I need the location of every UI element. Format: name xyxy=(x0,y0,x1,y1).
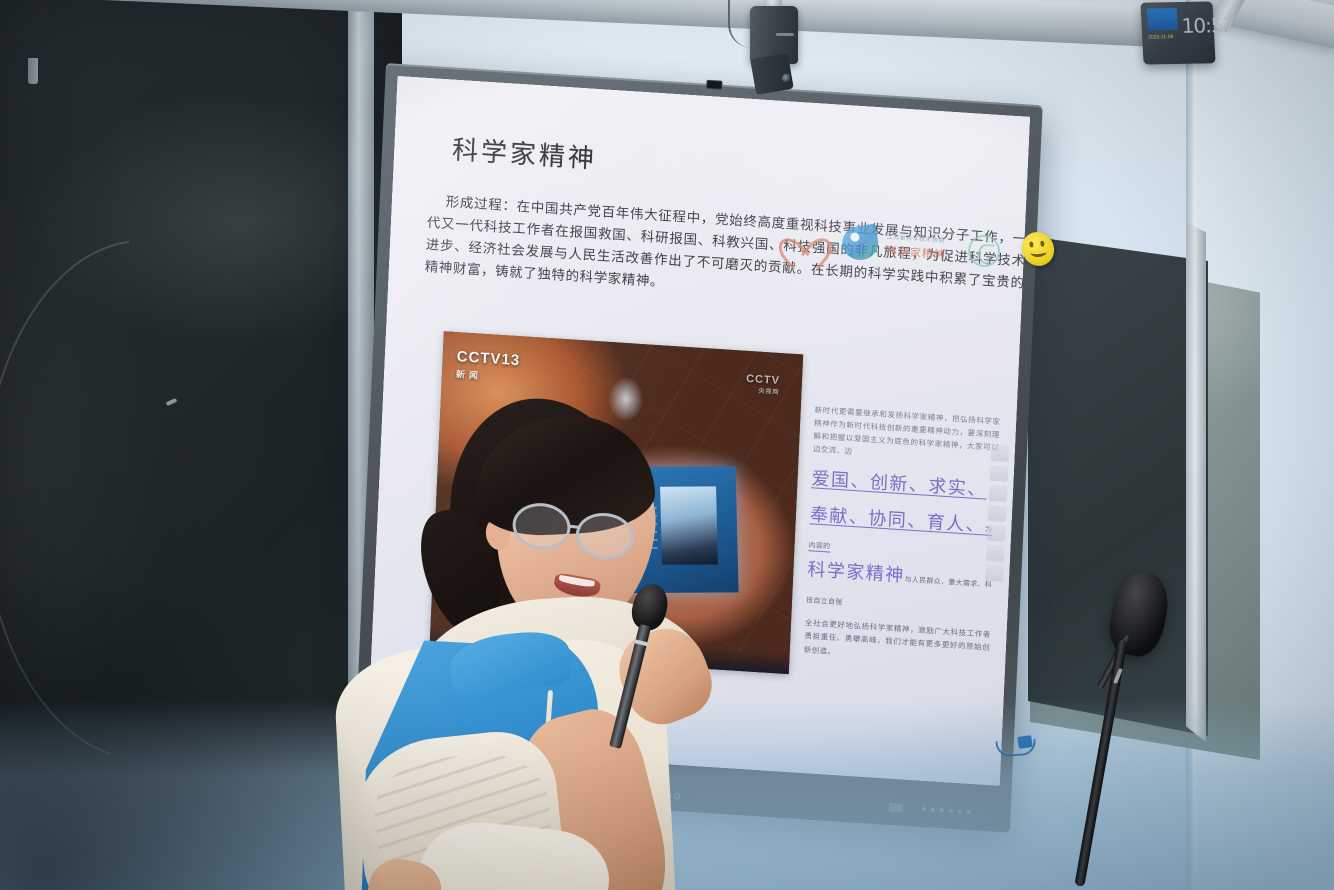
redo-icon[interactable] xyxy=(986,545,1005,562)
chalk-mark-arc xyxy=(0,240,302,760)
cctv-number: 13 xyxy=(501,351,520,369)
blue-cable-clip xyxy=(1017,735,1033,749)
slide-title: 科学家精神 xyxy=(451,129,1002,201)
clock-time: 10:57 xyxy=(1181,15,1235,36)
heart-outline-icon xyxy=(786,223,821,255)
camera-lens-icon xyxy=(781,73,793,85)
more-icon[interactable] xyxy=(985,565,1004,582)
eraser-icon[interactable] xyxy=(990,465,1009,482)
presenter xyxy=(300,390,720,890)
pen-icon[interactable] xyxy=(991,445,1010,462)
undo-icon[interactable] xyxy=(987,525,1006,542)
highlight-3-text: 科学家精神 xyxy=(807,559,905,586)
ceiling-security-camera xyxy=(744,0,802,100)
right-column-highlight-3: 科学家精神与人民群众、重大需求、科技自立自强 xyxy=(806,556,994,622)
glasses-lens-right xyxy=(573,510,636,563)
smiley-eye-right xyxy=(1040,241,1045,247)
smiley-eye-left xyxy=(1029,241,1034,247)
right-column-intro: 新时代更需要继承和发扬科学家精神，把弘扬科学家精神作为新时代科技创新的重要精神动… xyxy=(813,403,1001,467)
slide-right-column: 新时代更需要继承和发扬科学家精神，把弘扬科学家精神作为新时代科技创新的重要精神动… xyxy=(804,403,1001,668)
clock-date: 2025-11-08 xyxy=(1148,34,1178,41)
select-icon[interactable] xyxy=(989,485,1008,502)
cctv-watermark: CCTV 央视网 xyxy=(745,373,780,396)
chalk-mark-speck xyxy=(166,398,178,406)
wall-clock-display: 2025-11-08 10:57 xyxy=(1140,1,1215,64)
slide-body-label: 形成过程： xyxy=(445,194,517,215)
camera-head xyxy=(750,53,794,95)
clock-bracket xyxy=(28,58,38,84)
cctv-channel-logo: CCTV13 新闻 xyxy=(456,348,521,384)
classroom-scene: 科学家精神 形成过程：在中国共产党百年伟大征程中，党始终高度重视科技事业发展与知… xyxy=(0,0,1334,890)
glasses-lens-left xyxy=(510,500,573,553)
green-circle-icon xyxy=(967,234,1000,268)
panel-camera-icon xyxy=(706,80,722,90)
clock-info-panel: 2025-11-08 xyxy=(1147,8,1179,40)
logo-text-block: 江苏省科学技术协会 科学家精神 xyxy=(886,231,947,262)
highlight-2-text: 奉献、协同、育人、 xyxy=(809,504,985,536)
cctv-label: CCTV xyxy=(456,348,502,368)
right-column-footer: 全社会更好地弘扬科学家精神，激励广大科技工作者勇担重任、勇攀高峰，我们才能有更多… xyxy=(804,616,991,668)
smiley-mouth xyxy=(1030,247,1047,257)
gooseneck-mic-head xyxy=(1104,567,1174,660)
right-column-highlight-1: 爱国、创新、求实、 xyxy=(811,465,998,504)
blue-fish-icon xyxy=(840,224,881,263)
clock-banner xyxy=(1147,8,1178,30)
shape-icon[interactable] xyxy=(988,505,1007,522)
logo-org-name: 科学家精神 xyxy=(886,242,947,262)
gooseneck-microphone xyxy=(1076,572,1236,890)
